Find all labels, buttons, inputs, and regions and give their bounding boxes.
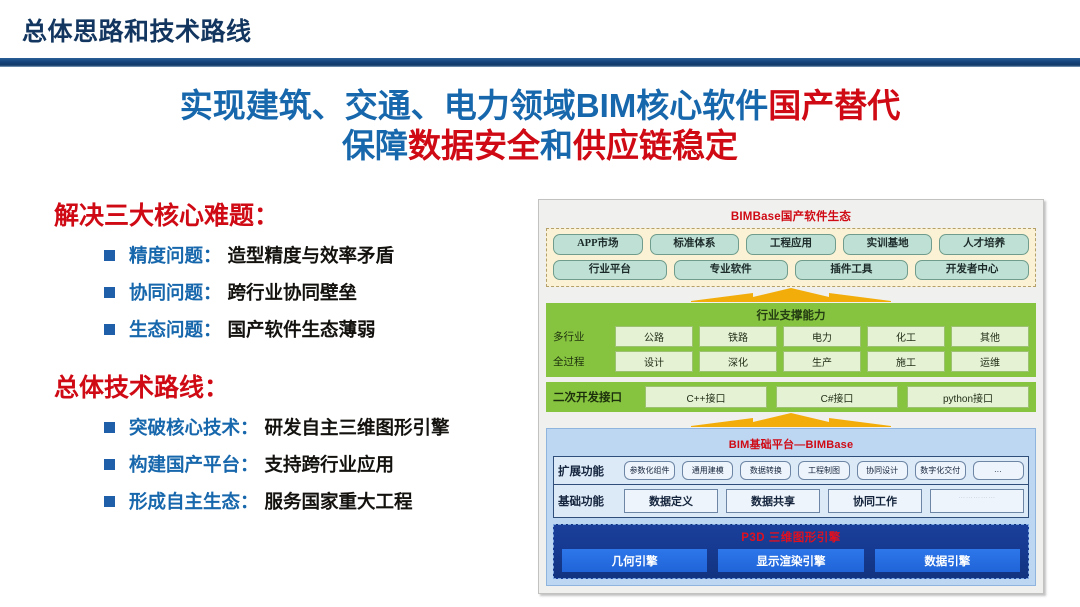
- capability-row-label: 多行业: [553, 329, 615, 344]
- heading-segment: 实现建筑、交通、电力领域BIM核心软件: [180, 87, 769, 124]
- api-block-label: 二次开发接口: [553, 389, 645, 405]
- api-block: 二次开发接口 C++接口 C#接口 python接口: [546, 382, 1036, 412]
- left-content-column: 解决三大核心难题： 精度问题 ： 造型精度与效率矛盾 协同问题 ： 跨行业协同壁…: [0, 196, 530, 525]
- extended-functions-row: 扩展功能 参数化组件 通用建模 数据转换 工程制图 协同设计 数字化交付 …: [554, 457, 1028, 485]
- square-bullet-icon: [104, 459, 115, 470]
- ecosystem-chip[interactable]: 工程应用: [746, 234, 836, 255]
- ecosystem-chip[interactable]: 开发者中心: [915, 260, 1029, 281]
- list-item: 形成自主生态 ： 服务国家重大工程: [104, 488, 530, 514]
- arrow-slot-2: [546, 412, 1036, 428]
- base-function-cell[interactable]: 数据定义: [624, 489, 718, 513]
- page-title: 总体思路和技术路线: [22, 12, 252, 48]
- list-item-separator: ：: [240, 414, 259, 440]
- engine-block: P3D 三维图形引擎 几何引擎 显示渲染引擎 数据引擎: [553, 524, 1029, 579]
- engine-cell[interactable]: 显示渲染引擎: [718, 549, 863, 572]
- section-1-bullet-list: 精度问题 ： 造型精度与效率矛盾 协同问题 ： 跨行业协同壁垒 生态问题 ： 国…: [104, 242, 530, 342]
- capability-cell[interactable]: 施工: [867, 351, 945, 372]
- capability-cell[interactable]: 生产: [783, 351, 861, 372]
- list-item-value: 服务国家重大工程: [265, 488, 413, 514]
- ecosystem-row-1: APP市场 标准体系 工程应用 实训基地 人才培养: [553, 234, 1029, 255]
- ecosystem-chip[interactable]: 插件工具: [795, 260, 909, 281]
- square-bullet-icon: [104, 324, 115, 335]
- list-item: 生态问题 ： 国产软件生态薄弱: [104, 316, 530, 342]
- extended-function-pill[interactable]: 通用建模: [682, 461, 733, 480]
- engine-cell-row: 几何引擎 显示渲染引擎 数据引擎: [562, 549, 1020, 572]
- platform-block: BIM基础平台—BIMBase 扩展功能 参数化组件 通用建模 数据转换 工程制…: [546, 428, 1036, 586]
- header-divider: [0, 58, 1080, 67]
- extended-function-pill[interactable]: 数据转换: [740, 461, 791, 480]
- list-item: 构建国产平台 ： 支持跨行业应用: [104, 451, 530, 477]
- list-item-key: 突破核心技术: [129, 414, 240, 440]
- list-item-value: 造型精度与效率矛盾: [228, 242, 395, 268]
- api-cell[interactable]: C#接口: [776, 386, 898, 408]
- square-bullet-icon: [104, 250, 115, 261]
- up-arrow-icon: [691, 413, 891, 427]
- list-item-separator: ：: [240, 451, 259, 477]
- list-item-separator: ：: [240, 488, 259, 514]
- ecosystem-title: BIMBase国产软件生态: [546, 208, 1036, 224]
- base-function-cell[interactable]: 数据共享: [726, 489, 820, 513]
- capability-block: 行业支撑能力 多行业 公路 铁路 电力 化工 其他 全过程 设计 深化 生产 施…: [546, 303, 1036, 377]
- capability-cell[interactable]: 铁路: [699, 326, 777, 347]
- extended-functions-label: 扩展功能: [558, 463, 624, 479]
- engine-title: P3D 三维图形引擎: [562, 529, 1020, 545]
- capability-cell[interactable]: 化工: [867, 326, 945, 347]
- list-item-value: 支持跨行业应用: [265, 451, 395, 477]
- main-heading-line-2: 保障数据安全和供应链稳定: [0, 126, 1080, 166]
- list-item-separator: ：: [203, 279, 222, 305]
- slide: 总体思路和技术路线 实现建筑、交通、电力领域BIM核心软件国产替代 保障数据安全…: [0, 0, 1080, 607]
- extended-function-pill[interactable]: 协同设计: [857, 461, 908, 480]
- list-item-key: 精度问题: [129, 242, 203, 268]
- capability-cell[interactable]: 深化: [699, 351, 777, 372]
- ecosystem-chip[interactable]: 人才培养: [939, 234, 1029, 255]
- capability-row-label: 全过程: [553, 354, 615, 369]
- extended-function-pill[interactable]: 工程制图: [798, 461, 849, 480]
- up-arrow-icon: [691, 288, 891, 302]
- list-item-key: 协同问题: [129, 279, 203, 305]
- capability-cell[interactable]: 电力: [783, 326, 861, 347]
- section-1-title: 解决三大核心难题：: [54, 196, 530, 232]
- list-item-key: 生态问题: [129, 316, 203, 342]
- heading-segment: 供应链稳定: [573, 127, 738, 164]
- square-bullet-icon: [104, 496, 115, 507]
- heading-segment: 国产替代: [768, 87, 900, 124]
- ecosystem-row-2: 行业平台 专业软件 插件工具 开发者中心: [553, 260, 1029, 281]
- list-item-separator: ：: [203, 316, 222, 342]
- heading-segment: 保障: [342, 127, 408, 164]
- base-functions-label: 基础功能: [558, 493, 624, 509]
- list-item-key: 形成自主生态: [129, 488, 240, 514]
- capability-row-industries: 多行业 公路 铁路 电力 化工 其他: [553, 326, 1029, 347]
- architecture-diagram: BIMBase国产软件生态 APP市场 标准体系 工程应用 实训基地 人才培养 …: [538, 199, 1044, 594]
- slide-header: 总体思路和技术路线: [0, 0, 1080, 58]
- list-item: 精度问题 ： 造型精度与效率矛盾: [104, 242, 530, 268]
- square-bullet-icon: [104, 287, 115, 298]
- base-function-cell[interactable]: 协同工作: [828, 489, 922, 513]
- list-item-key: 构建国产平台: [129, 451, 240, 477]
- base-functions-row: 基础功能 数据定义 数据共享 协同工作 ……………: [554, 485, 1028, 517]
- list-item: 突破核心技术 ： 研发自主三维图形引擎: [104, 414, 530, 440]
- engine-cell[interactable]: 几何引擎: [562, 549, 707, 572]
- list-item-separator: ：: [203, 242, 222, 268]
- ecosystem-chip[interactable]: 实训基地: [843, 234, 933, 255]
- main-heading-line-1: 实现建筑、交通、电力领域BIM核心软件国产替代: [0, 86, 1080, 126]
- api-cell[interactable]: python接口: [907, 386, 1029, 408]
- capability-cell[interactable]: 其他: [951, 326, 1029, 347]
- capability-row-phases: 全过程 设计 深化 生产 施工 运维: [553, 351, 1029, 372]
- ecosystem-chip[interactable]: APP市场: [553, 234, 643, 255]
- base-function-cell-more[interactable]: ……………: [930, 489, 1024, 513]
- capability-cell[interactable]: 运维: [951, 351, 1029, 372]
- section-2-title: 总体技术路线：: [54, 368, 530, 404]
- heading-segment: 和: [540, 127, 573, 164]
- capability-cell[interactable]: 公路: [615, 326, 693, 347]
- platform-title: BIM基础平台—BIMBase: [553, 436, 1029, 452]
- extended-function-pill[interactable]: 数字化交付: [915, 461, 966, 480]
- capability-title: 行业支撑能力: [553, 307, 1029, 323]
- list-item-value: 跨行业协同壁垒: [228, 279, 358, 305]
- function-table: 扩展功能 参数化组件 通用建模 数据转换 工程制图 协同设计 数字化交付 … 基…: [553, 456, 1029, 518]
- ecosystem-chip[interactable]: 专业软件: [674, 260, 788, 281]
- list-item: 协同问题 ： 跨行业协同壁垒: [104, 279, 530, 305]
- square-bullet-icon: [104, 422, 115, 433]
- main-heading: 实现建筑、交通、电力领域BIM核心软件国产替代 保障数据安全和供应链稳定: [0, 86, 1080, 167]
- extended-function-pill-more[interactable]: …: [973, 461, 1024, 480]
- ecosystem-block: APP市场 标准体系 工程应用 实训基地 人才培养 行业平台 专业软件 插件工具…: [546, 228, 1036, 287]
- heading-segment: 数据安全: [408, 127, 540, 164]
- ecosystem-chip[interactable]: 标准体系: [650, 234, 740, 255]
- section-2-bullet-list: 突破核心技术 ： 研发自主三维图形引擎 构建国产平台 ： 支持跨行业应用 形成自…: [104, 414, 530, 514]
- engine-cell[interactable]: 数据引擎: [875, 549, 1020, 572]
- extended-function-pill[interactable]: 参数化组件: [624, 461, 675, 480]
- list-item-value: 研发自主三维图形引擎: [265, 414, 450, 440]
- arrow-slot-1: [546, 287, 1036, 303]
- ecosystem-chip[interactable]: 行业平台: [553, 260, 667, 281]
- capability-cell[interactable]: 设计: [615, 351, 693, 372]
- list-item-value: 国产软件生态薄弱: [228, 316, 376, 342]
- api-cell[interactable]: C++接口: [645, 386, 767, 408]
